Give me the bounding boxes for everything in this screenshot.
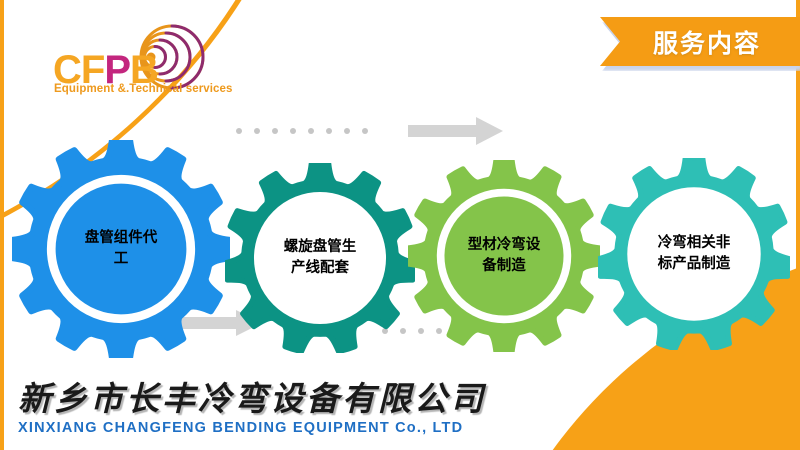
- dot: [272, 128, 278, 134]
- company-name-cn: 新乡市长丰冷弯设备有限公司: [18, 382, 486, 417]
- gear-step-4[interactable]: 冷弯相关非 标产品制造: [598, 158, 790, 350]
- dot: [362, 128, 368, 134]
- gear-shape-3: [408, 160, 600, 352]
- slide-canvas: 服务内容 CFPB Equipment &.Technical services: [0, 0, 800, 450]
- title-banner: 服务内容: [600, 17, 800, 66]
- dot: [326, 128, 332, 134]
- gear-step-2[interactable]: 螺旋盘管生 产线配套: [225, 163, 415, 353]
- gear-step-1[interactable]: 盘管组件代 工: [12, 140, 230, 358]
- dot: [236, 128, 242, 134]
- company-name-en: XINXIANG CHANGFENG BENDING EQUIPMENT Co.…: [18, 420, 486, 436]
- orange-edge-left: [0, 0, 4, 450]
- connector-dots-top: [236, 128, 368, 134]
- gear-step-3[interactable]: 型材冷弯设 备制造: [408, 160, 600, 352]
- company-logo: CFPB Equipment &.Technical services: [50, 22, 230, 107]
- title-banner-label: 服务内容: [600, 17, 800, 66]
- gear-shape-2: [225, 163, 415, 353]
- gear-shape-1: [12, 140, 230, 358]
- dot: [254, 128, 260, 134]
- company-name-block: 新乡市长丰冷弯设备有限公司 XINXIANG CHANGFENG BENDING…: [18, 382, 486, 436]
- connector-arrow-top: [408, 117, 503, 145]
- logo-tagline: Equipment &.Technical services: [54, 83, 233, 95]
- dot: [290, 128, 296, 134]
- gear-shape-4: [598, 158, 790, 350]
- dot: [344, 128, 350, 134]
- dot: [308, 128, 314, 134]
